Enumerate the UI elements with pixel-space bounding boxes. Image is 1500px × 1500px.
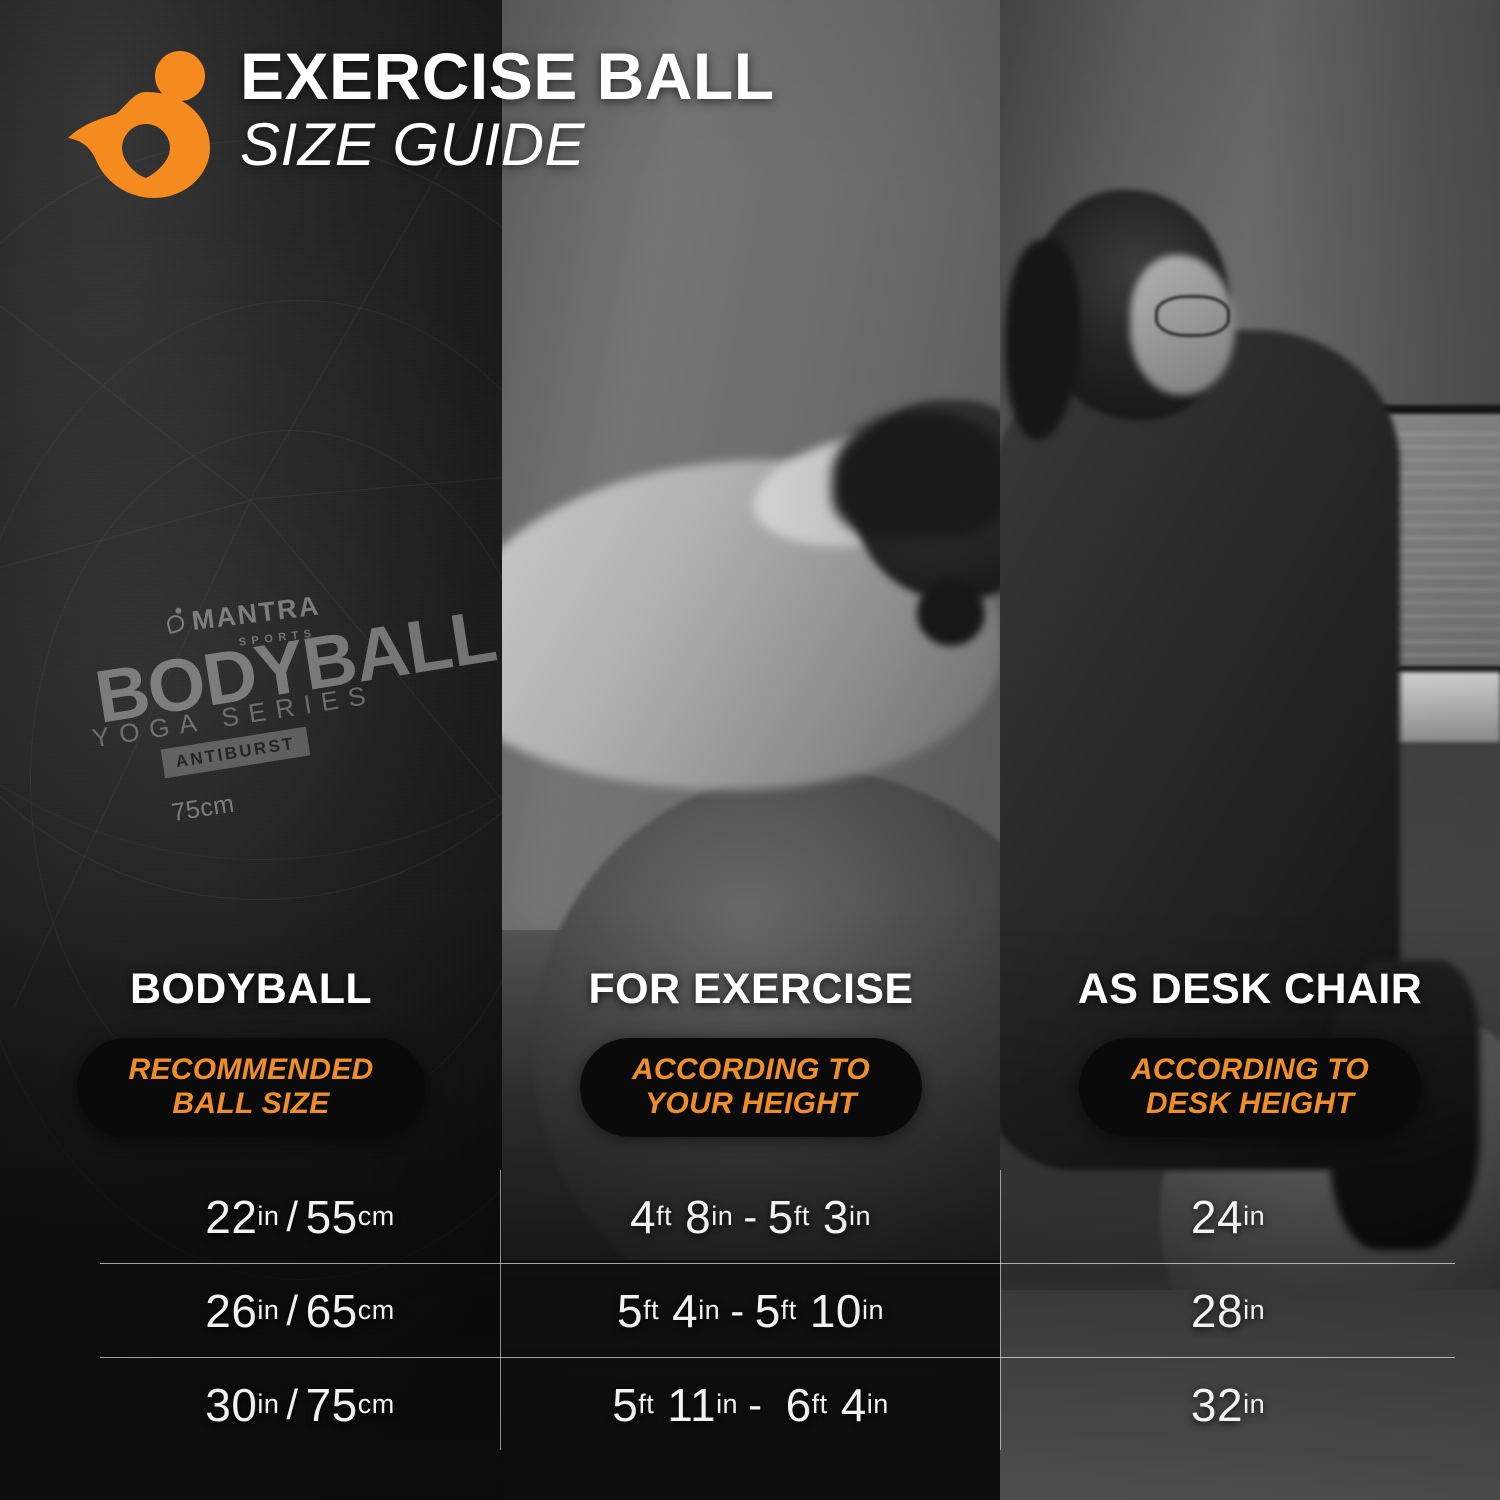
column-pill-bodyball: RECOMMENDED BALL SIZE	[77, 1038, 425, 1137]
unit-centimetres: cm	[358, 1295, 395, 1326]
value-desk-height: 28	[1191, 1284, 1243, 1338]
column-title-as-desk-chair: AS DESK CHAIR	[1000, 965, 1500, 1014]
range-dash: -	[733, 1193, 768, 1241]
size-table: 22in/55cm 4ft8in-5ft3in 24in 26in/65cm 5…	[100, 1170, 1455, 1450]
value-inches: 22	[205, 1190, 257, 1244]
mantra-droplet-logo-icon	[165, 613, 186, 634]
unit-inches: in	[1243, 1201, 1265, 1232]
exercise-photo-hair-bun	[917, 580, 985, 646]
size-guide-infographic: MANTRA SPORTS BODYBALL YOGA SERIES ANTIB…	[0, 0, 1500, 1500]
unit-inches: in	[867, 1389, 889, 1420]
column-pill-label-as-desk-chair: ACCORDING TO DESK HEIGHT	[1113, 1053, 1387, 1120]
table-cell-ball-size: 30in/75cm	[100, 1358, 500, 1451]
unit-centimetres: cm	[358, 1389, 395, 1420]
value-feet-max: 5	[755, 1284, 781, 1338]
value-inches: 26	[205, 1284, 257, 1338]
range-dash: -	[720, 1287, 755, 1335]
value-inches: 30	[205, 1378, 257, 1432]
value-inches-min: 8	[685, 1190, 711, 1244]
table-cell-height-range: 5ft4in-5ft10in	[501, 1264, 1000, 1357]
unit-feet: ft	[638, 1389, 654, 1420]
unit-inches: in	[698, 1295, 720, 1326]
header: EXERCISE BALL SIZE GUIDE	[0, 0, 1500, 215]
value-feet-min: 5	[617, 1284, 643, 1338]
column-pill-label-bodyball: RECOMMENDED BALL SIZE	[111, 1053, 391, 1120]
unit-inches: in	[1243, 1295, 1265, 1326]
unit-feet: ft	[794, 1201, 810, 1232]
value-separator: /	[279, 1287, 305, 1335]
unit-inches: in	[257, 1201, 279, 1232]
desk-photo-glasses	[1155, 295, 1230, 337]
table-cell-ball-size: 22in/55cm	[100, 1170, 500, 1263]
table-cell-desk-height: 24in	[1001, 1170, 1455, 1263]
page-subtitle: SIZE GUIDE	[240, 113, 775, 178]
value-desk-height: 24	[1191, 1190, 1243, 1244]
unit-feet: ft	[781, 1295, 797, 1326]
value-centimetres: 65	[306, 1284, 358, 1338]
mantra-droplet-logo-icon	[68, 48, 224, 198]
unit-centimetres: cm	[358, 1201, 395, 1232]
table-cell-desk-height: 28in	[1001, 1264, 1455, 1357]
value-feet-min: 5	[612, 1378, 638, 1432]
table-cell-desk-height: 32in	[1001, 1358, 1455, 1451]
unit-inches: in	[716, 1389, 738, 1420]
unit-inches: in	[862, 1295, 884, 1326]
value-inches-min: 4	[672, 1284, 698, 1338]
unit-inches: in	[257, 1389, 279, 1420]
unit-feet: ft	[812, 1389, 828, 1420]
value-feet-max: 5	[768, 1190, 794, 1244]
column-pill-label-for-exercise: ACCORDING TO YOUR HEIGHT	[614, 1053, 888, 1120]
value-inches-max: 3	[823, 1190, 849, 1244]
column-title-bodyball: BODYBALL	[0, 965, 502, 1014]
column-pill-as-desk-chair: ACCORDING TO DESK HEIGHT	[1079, 1038, 1421, 1137]
range-dash: -	[738, 1381, 773, 1429]
unit-feet: ft	[656, 1201, 672, 1232]
value-feet-min: 4	[630, 1190, 656, 1244]
value-inches-max: 10	[810, 1284, 862, 1338]
table-cell-height-range: 5ft11in-6ft4in	[501, 1358, 1000, 1451]
value-centimetres: 75	[306, 1378, 358, 1432]
table-cell-ball-size: 26in/65cm	[100, 1264, 500, 1357]
value-desk-height: 32	[1191, 1378, 1243, 1432]
value-inches-max: 4	[841, 1378, 867, 1432]
column-pill-for-exercise: ACCORDING TO YOUR HEIGHT	[580, 1038, 922, 1137]
unit-feet: ft	[643, 1295, 659, 1326]
product-print-branding: MANTRA SPORTS BODYBALL YOGA SERIES ANTIB…	[120, 590, 480, 804]
unit-inches: in	[711, 1201, 733, 1232]
value-separator: /	[279, 1381, 305, 1429]
value-separator: /	[279, 1193, 305, 1241]
value-centimetres: 55	[306, 1190, 358, 1244]
column-title-for-exercise: FOR EXERCISE	[502, 965, 1000, 1014]
value-feet-max: 6	[786, 1378, 812, 1432]
table-cell-height-range: 4ft8in-5ft3in	[501, 1170, 1000, 1263]
unit-inches: in	[849, 1201, 871, 1232]
unit-inches: in	[257, 1295, 279, 1326]
page-title: EXERCISE BALL	[240, 42, 775, 111]
unit-inches: in	[1243, 1389, 1265, 1420]
header-text-block: EXERCISE BALL SIZE GUIDE	[240, 42, 775, 177]
value-inches-min: 11	[667, 1378, 716, 1432]
